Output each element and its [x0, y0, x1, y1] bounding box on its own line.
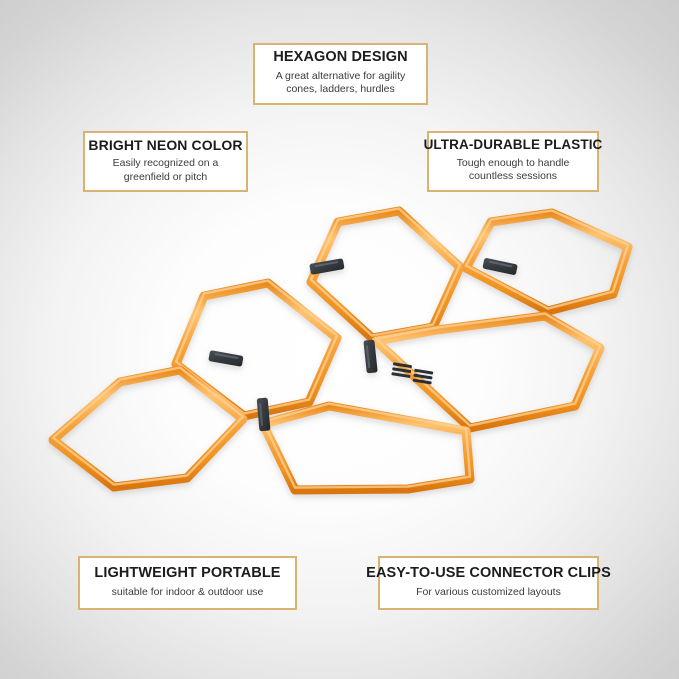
hexagon-grid: [53, 209, 628, 490]
callout-subtitle: suitable for indoor & outdoor use: [112, 586, 264, 599]
hexagon-ring-top-middle: [311, 209, 460, 338]
connector-clip-top-right: [482, 258, 518, 276]
hexagon-ring-bottom-left: [53, 368, 243, 487]
connector-clip-lower-vertical: [257, 398, 271, 432]
callout-lightweight-portable: LIGHTWEIGHT PORTABLE suitable for indoor…: [78, 556, 297, 610]
callout-title: ULTRA-DURABLE PLASTIC: [424, 137, 603, 153]
callout-subtitle-line1: For various customized layouts: [416, 586, 561, 598]
callout-subtitle-line1: Tough enough to handle: [457, 157, 570, 169]
callout-bright-neon-color: BRIGHT NEON COLOR Easily recognized on a…: [83, 131, 248, 192]
callout-subtitle-line1: A great alternative for agility: [276, 70, 406, 82]
callout-subtitle-line2: greenfield or pitch: [124, 171, 207, 183]
infographic-canvas: HEXAGON DESIGN A great alternative for a…: [0, 0, 679, 679]
callout-easy-to-use-connector-clips: EASY-TO-USE CONNECTOR CLIPS For various …: [378, 556, 599, 610]
callout-subtitle-line1: suitable for indoor & outdoor use: [112, 586, 264, 598]
callout-title: EASY-TO-USE CONNECTOR CLIPS: [366, 565, 611, 582]
callout-subtitle: A great alternative for agility cones, l…: [276, 70, 406, 97]
connector-clip-middle-left: [208, 350, 243, 367]
callout-title: LIGHTWEIGHT PORTABLE: [94, 565, 280, 582]
callout-title: BRIGHT NEON COLOR: [88, 137, 242, 153]
callout-title: HEXAGON DESIGN: [273, 49, 407, 66]
callout-subtitle-line2: countless sessions: [469, 170, 557, 182]
callout-ultra-durable-plastic: ULTRA-DURABLE PLASTIC Tough enough to ha…: [427, 131, 599, 192]
callout-subtitle-line2: cones, ladders, hurdles: [286, 83, 395, 95]
callout-subtitle: Easily recognized on a greenfield or pit…: [113, 157, 219, 184]
callout-hexagon-design: HEXAGON DESIGN A great alternative for a…: [253, 43, 428, 105]
callout-subtitle-line1: Easily recognized on a: [113, 157, 219, 169]
connector-clip-top-middle-left: [309, 258, 344, 275]
hexagon-ring-middle-left: [176, 281, 337, 416]
callout-subtitle: Tough enough to handle countless session…: [457, 157, 570, 184]
callout-subtitle: For various customized layouts: [416, 586, 561, 599]
hexagon-ring-bottom-middle: [263, 404, 470, 490]
